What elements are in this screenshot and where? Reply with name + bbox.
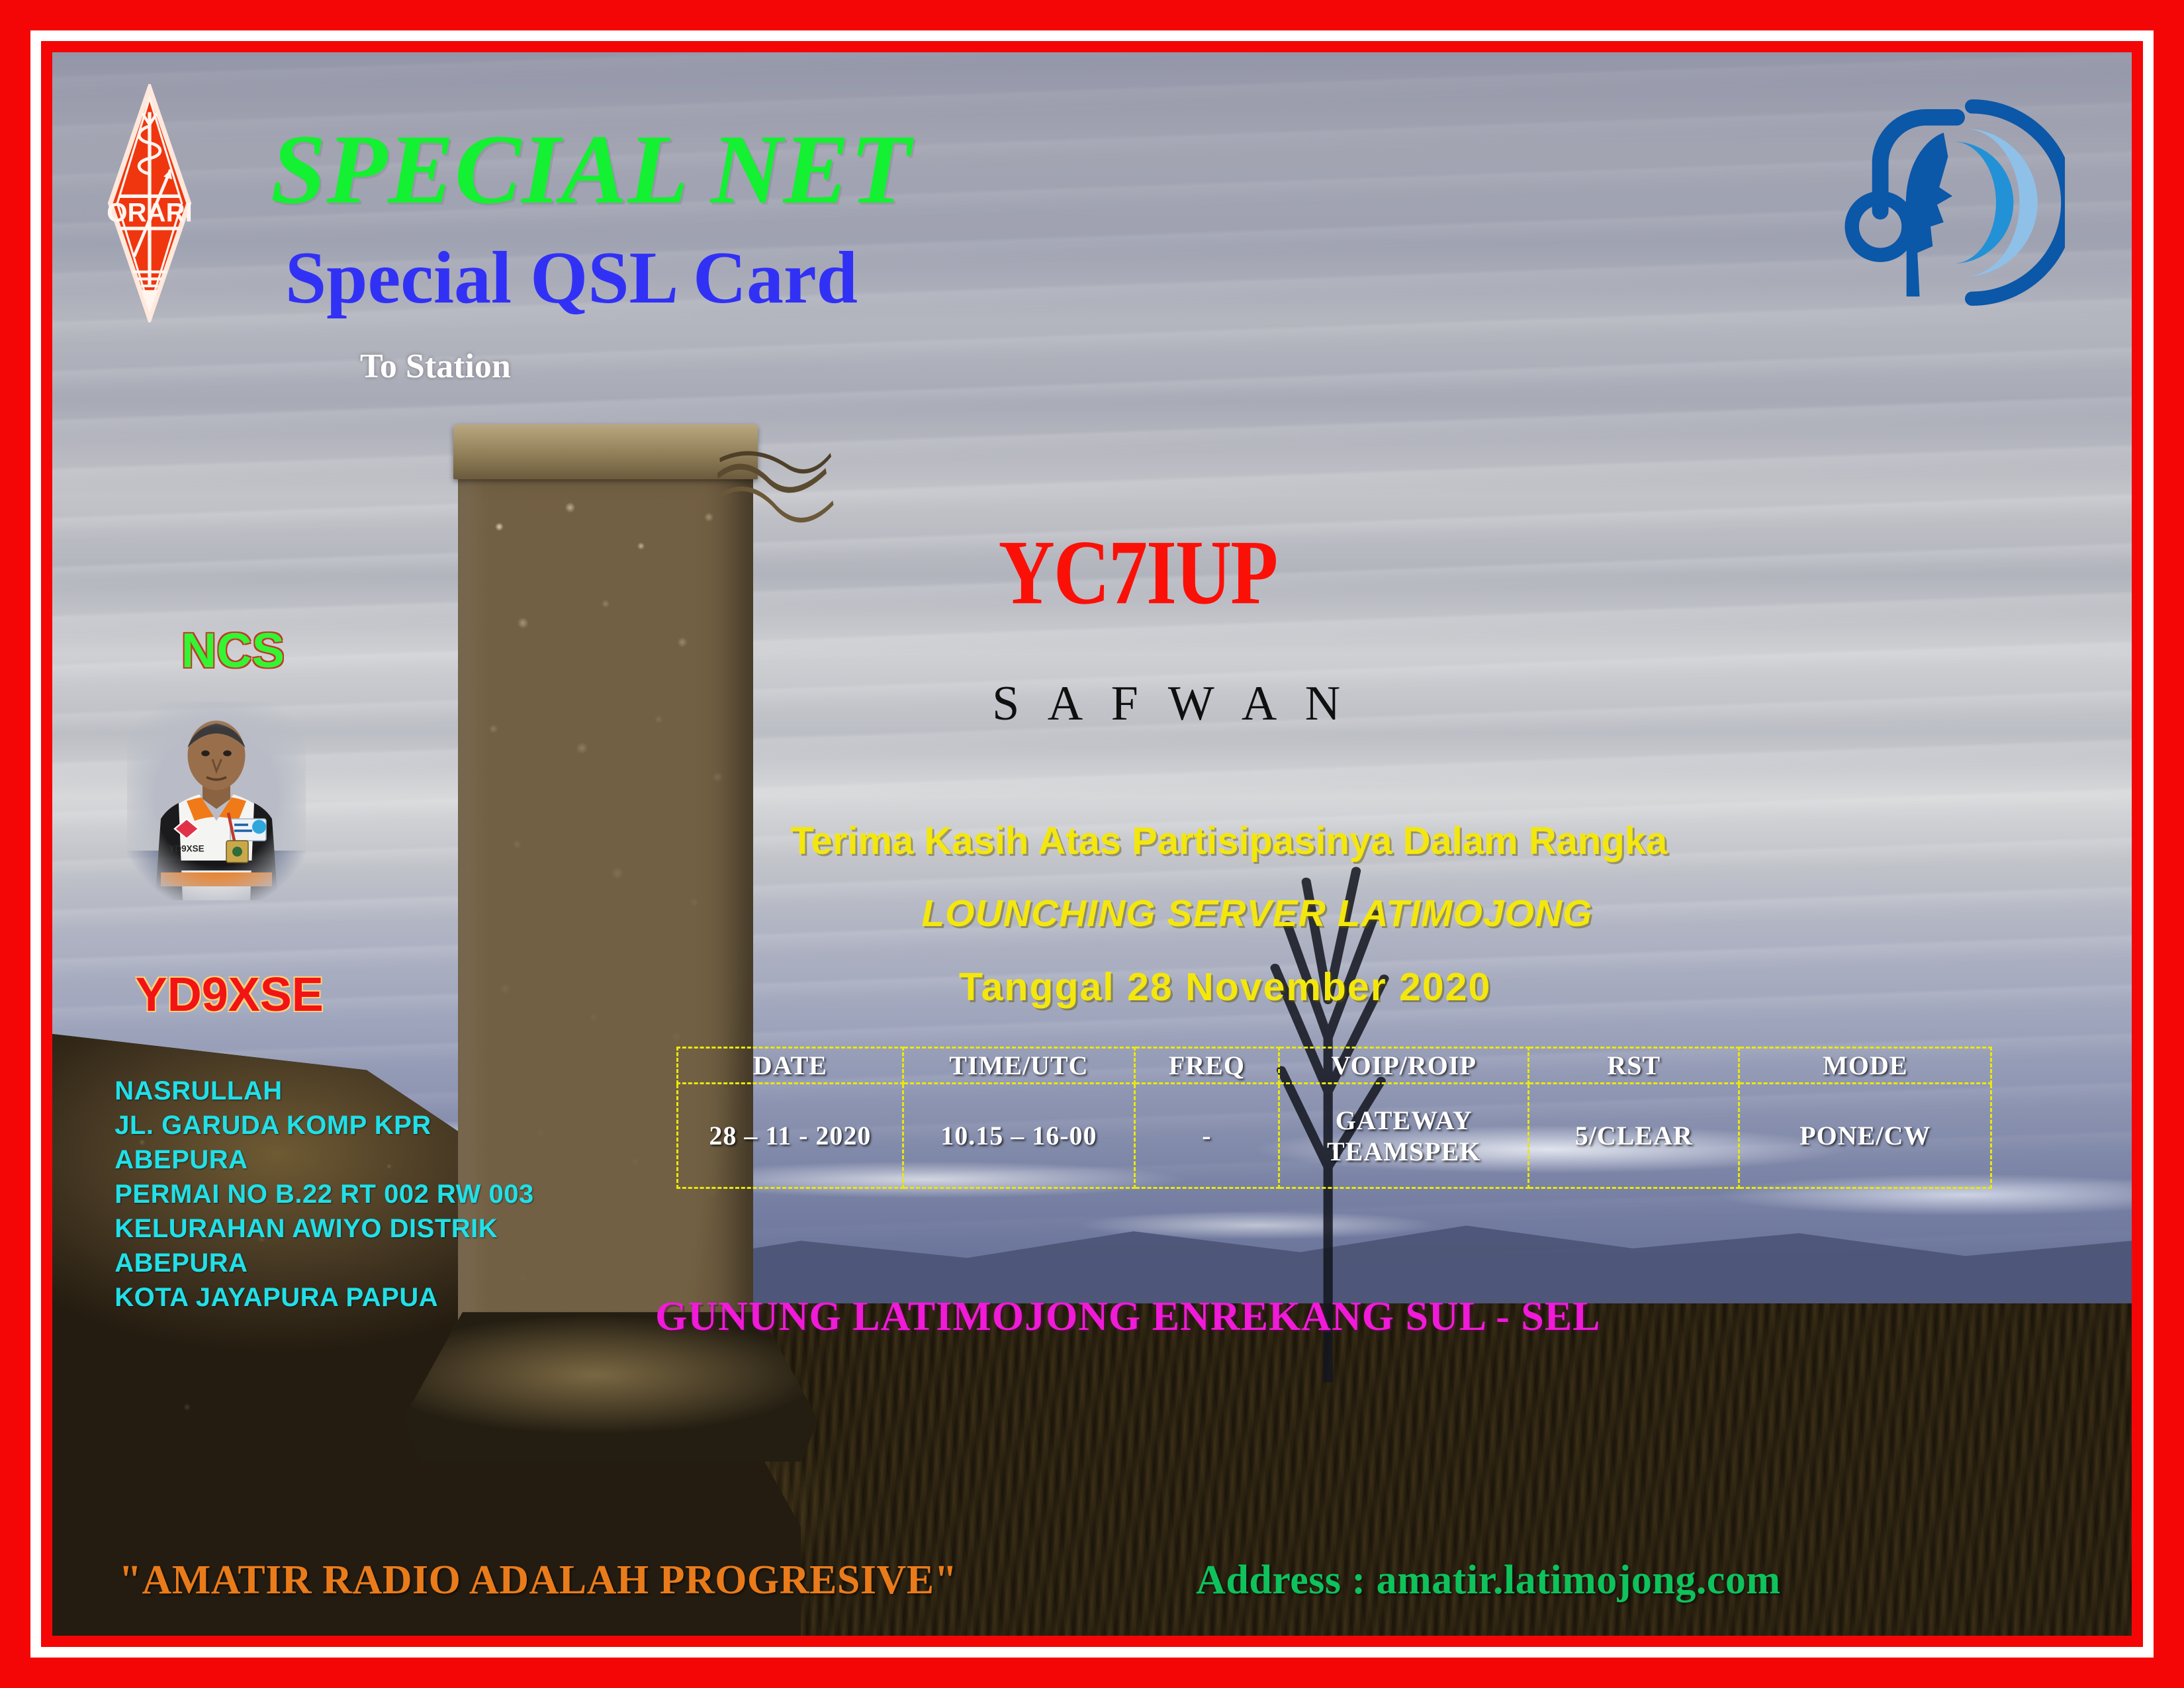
ncs-callsign: YD9XSE <box>136 968 324 1022</box>
address-line: PERMAI NO B.22 RT 002 RW 003 <box>114 1177 533 1211</box>
location-line: GUNUNG LATIMOJONG ENREKANG SUL - SEL <box>655 1293 1600 1340</box>
antenna-wires-icon <box>717 444 835 604</box>
column-header-rst: RST <box>1529 1048 1739 1084</box>
cell-rst: 5/CLEAR <box>1529 1084 1739 1188</box>
address-line: ABEPURA <box>114 1143 533 1177</box>
headset-profile-logo <box>1840 93 2065 312</box>
table-header-row: DATE TIME/UTC FREQ VOIP/ROIP RST MODE <box>677 1048 1991 1084</box>
column-header-mode: MODE <box>1739 1048 1991 1084</box>
ncs-label: NCS <box>181 622 285 679</box>
ncs-operator-photo: YD9XSE <box>127 702 306 900</box>
cell-voip: GATEWAY TEAMSPEK <box>1279 1084 1529 1188</box>
column-header-date: DATE <box>677 1048 903 1084</box>
page-title: SPECIAL NET <box>271 113 911 226</box>
slogan-text: "AMATIR RADIO ADALAH PROGRESIVE" <box>119 1557 958 1604</box>
qsl-card-frame: ORARI <box>0 0 2184 1688</box>
uniform-badge-text: YD9XSE <box>169 843 204 853</box>
column-header-voip: VOIP/ROIP <box>1279 1048 1529 1084</box>
thanks-message-line1: Terima Kasih Atas Partisipasinya Dalam R… <box>790 819 1667 863</box>
column-header-time: TIME/UTC <box>903 1048 1135 1084</box>
cell-freq: - <box>1134 1084 1279 1188</box>
station-callsign: YC7IUP <box>999 520 1277 626</box>
qso-details-table: DATE TIME/UTC FREQ VOIP/ROIP RST MODE 28… <box>676 1047 1993 1189</box>
address-line: JL. GARUDA KOMP KPR <box>114 1108 533 1143</box>
event-date-line: Tanggal 28 November 2020 <box>959 964 1491 1009</box>
orari-logo-text: ORARI <box>107 197 193 227</box>
column-header-freq: FREQ <box>1134 1048 1279 1084</box>
to-station-label: To Station <box>360 347 511 386</box>
address-line: KOTA JAYAPURA PAPUA <box>114 1280 533 1315</box>
cell-voip-line1: GATEWAY <box>1283 1105 1525 1136</box>
operator-name: S A F W A N <box>992 676 1349 732</box>
pillar-cap <box>453 424 758 479</box>
orari-diamond-logo: ORARI <box>107 84 193 322</box>
table-row: 28 – 11 - 2020 10.15 – 16-00 - GATEWAY T… <box>677 1084 1991 1188</box>
card-background-photo: ORARI <box>52 52 2132 1636</box>
address-line: NASRULLAH <box>114 1074 533 1108</box>
card-inner-red-band: ORARI <box>41 41 2143 1647</box>
mailing-address: NASRULLAH JL. GARUDA KOMP KPR ABEPURA PE… <box>114 1074 533 1315</box>
cell-time: 10.15 – 16-00 <box>903 1084 1135 1188</box>
web-address-text: Address : amatir.latimojong.com <box>1196 1557 1780 1604</box>
card-white-band: ORARI <box>30 30 2154 1658</box>
cell-voip-line2: TEAMSPEK <box>1283 1136 1525 1167</box>
address-line: KELURAHAN AWIYO DISTRIK <box>114 1211 533 1246</box>
address-line: ABEPURA <box>114 1246 533 1280</box>
page-subtitle: Special QSL Card <box>285 236 858 321</box>
cell-mode: PONE/CW <box>1739 1084 1991 1188</box>
event-title-line: LOUNCHING SERVER LATIMOJONG <box>921 892 1592 935</box>
cell-date: 28 – 11 - 2020 <box>677 1084 903 1188</box>
